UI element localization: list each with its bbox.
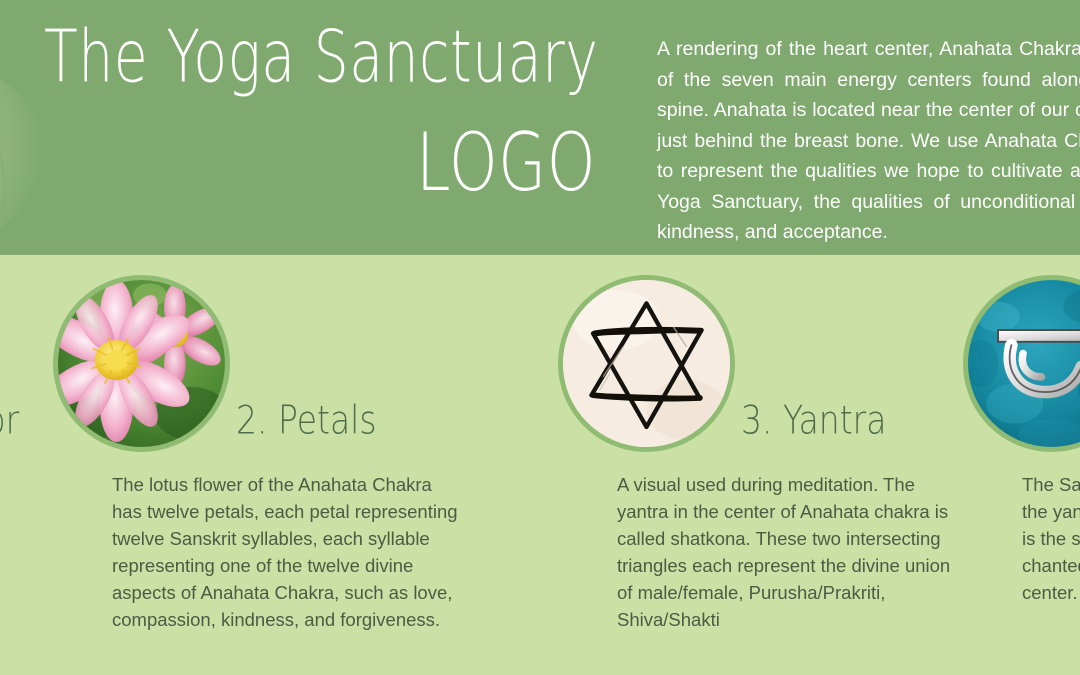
card-petals-title: 2. Petals [236,397,377,443]
card-yantra-head: 3. Yantra [613,255,963,455]
header-band: The Yoga Sanctuary LOGO A rendering of t… [0,0,1080,255]
card-yantra-body: A visual used during meditation. The yan… [617,471,969,633]
card-petals-head: 2. Petals [108,255,458,455]
card-sound-head: 4. Sound [1018,255,1080,455]
card-yantra-title: 3. Yantra [741,397,886,443]
yam-bija-circle [963,275,1080,452]
card-yantra: 3. Yantra A visual used during meditatio… [613,255,963,675]
header-title-block: The Yoga Sanctuary LOGO [44,16,644,188]
cards-row: 1. Color The green color of Anahata [0,255,1080,675]
logo-word: LOGO [44,116,596,209]
card-sound-body: The Sanskrit bija sound at the center of… [1022,471,1080,606]
shatkona-six-pointed-star-image [563,280,730,447]
lotus-flower-circle [53,275,230,452]
yantra-circle [558,275,735,452]
pink-lotus-flower-image [58,280,225,447]
yam-bija-mantra-image [968,280,1080,447]
card-petals-body: The lotus flower of the Anahata Chakra h… [112,471,464,633]
card-color-body: The green color of Anahata [0,471,119,498]
card-color-title: 1. Color [0,397,19,443]
header-description-paragraph: A rendering of the heart center, Anahata… [657,34,1080,248]
card-sound: 4. Sound The Sanskrit bija sound at the … [1018,255,1080,675]
card-petals: 2. Petals The lotus flower of the Anahat… [108,255,458,675]
brand-title: The Yoga Sanctuary [44,16,626,101]
